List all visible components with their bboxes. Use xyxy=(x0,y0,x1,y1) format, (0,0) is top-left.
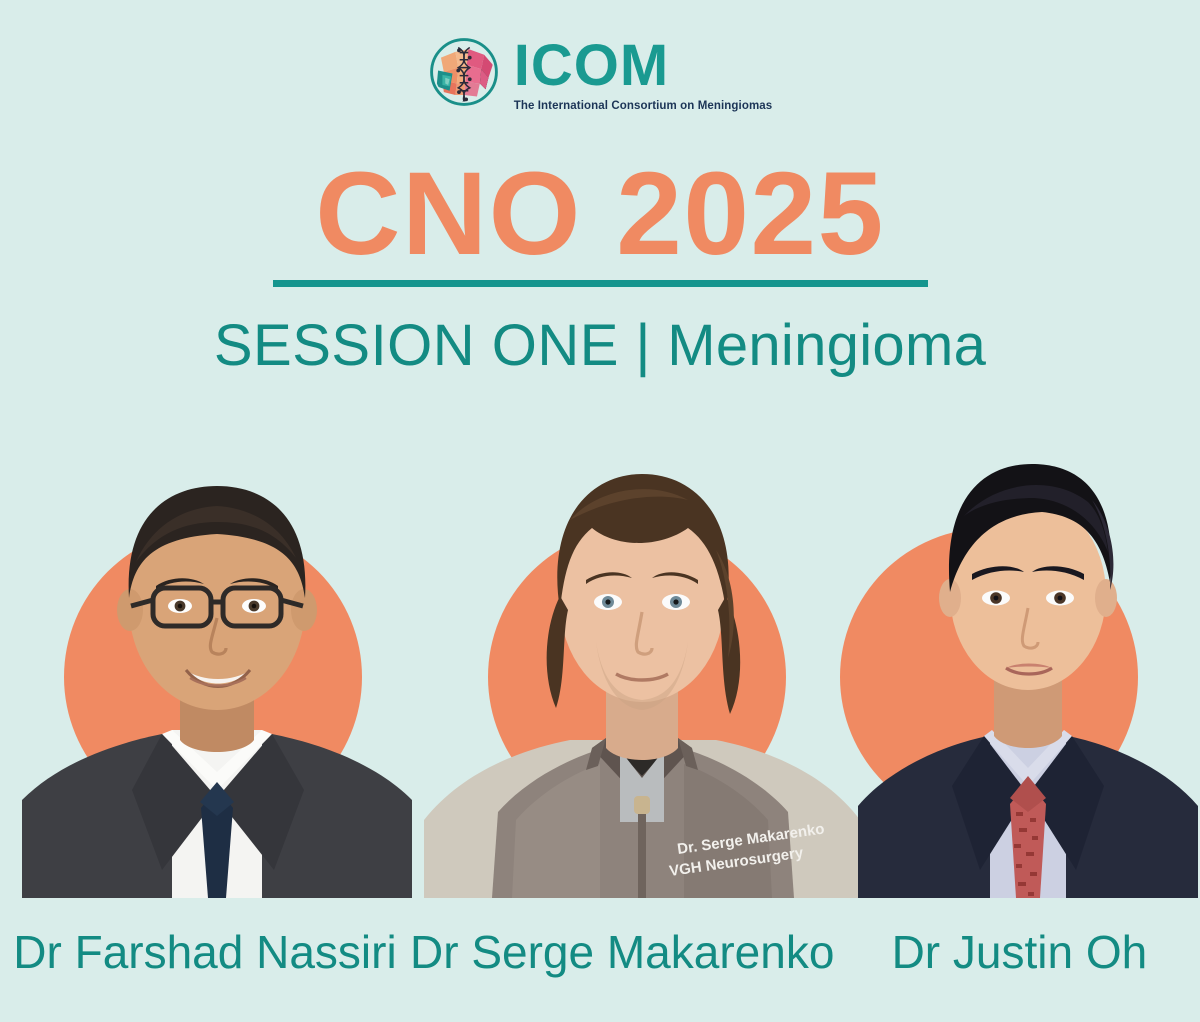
speaker-portrait-serge-makarenko: Dr. Serge Makarenko VGH Neurosurgery xyxy=(420,430,864,898)
session-topic: Meningioma xyxy=(667,313,986,378)
speaker-photo-band: Dr. Serge Makarenko VGH Neurosurgery xyxy=(0,430,1200,898)
speaker-portrait-justin-oh xyxy=(856,430,1200,898)
icom-brain-dna-logo-icon xyxy=(428,36,500,108)
session-label: SESSION ONE xyxy=(214,313,619,378)
speaker-portrait-farshad-nassiri xyxy=(12,430,422,898)
poster-subtitle: SESSION ONE | Meningioma xyxy=(0,313,1200,380)
speaker-name-1: Dr Farshad Nassiri xyxy=(0,925,410,980)
speaker-name-3: Dr Justin Oh xyxy=(834,925,1200,980)
event-announcement-poster: ICOM The International Consortium on Men… xyxy=(0,0,1200,1022)
icom-logo-text: ICOM The International Consortium on Men… xyxy=(514,36,773,112)
poster-title: CNO 2025 xyxy=(0,155,1200,273)
speaker-name-2: Dr Serge Makarenko xyxy=(410,925,834,980)
title-divider-rule xyxy=(273,280,928,287)
speaker-names-row: Dr Farshad Nassiri Dr Serge Makarenko Dr… xyxy=(0,925,1200,980)
subtitle-separator: | xyxy=(635,313,650,378)
icom-wordmark: ICOM xyxy=(514,38,669,93)
icom-logo-lockup: ICOM The International Consortium on Men… xyxy=(0,36,1200,112)
icom-tagline: The International Consortium on Meningio… xyxy=(514,100,773,112)
